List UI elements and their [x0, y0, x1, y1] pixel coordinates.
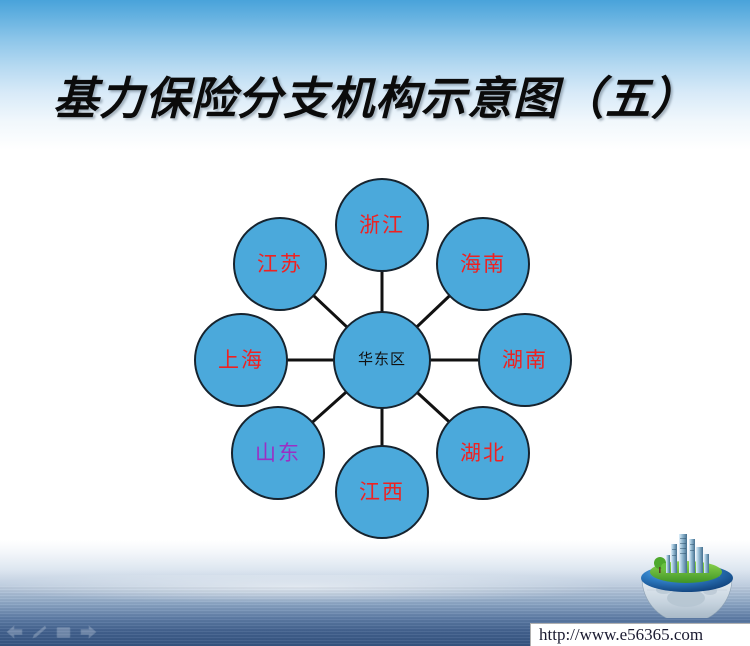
- diagram-node[interactable]: 江西: [335, 445, 429, 539]
- watermark-url-box: http://www.e56365.com: [530, 623, 750, 646]
- diagram-node[interactable]: 海南: [436, 217, 530, 311]
- diagram-node[interactable]: 湖南: [478, 313, 572, 407]
- watermark-url-text: http://www.e56365.com: [539, 625, 703, 645]
- slide-icon[interactable]: [56, 626, 71, 639]
- pen-icon[interactable]: [32, 625, 47, 639]
- diagram-edge: [416, 295, 450, 328]
- presentation-slide: 基力保险分支机构示意图（五） 浙江海南湖南湖北江西山东上海江苏华东区: [0, 0, 750, 646]
- diagram-edge: [313, 295, 348, 328]
- node-label: 湖北: [460, 443, 506, 464]
- node-label: 上海: [218, 350, 264, 371]
- diagram-node[interactable]: 浙江: [335, 178, 429, 272]
- node-label: 海南: [460, 254, 506, 275]
- presentation-nav-controls[interactable]: [6, 622, 106, 642]
- diagram-node[interactable]: 湖北: [436, 406, 530, 500]
- node-label: 江西: [359, 482, 405, 503]
- node-label: 山东: [255, 443, 301, 464]
- forward-arrow-icon[interactable]: [80, 625, 97, 639]
- diagram-node[interactable]: 江苏: [233, 217, 327, 311]
- diagram-center-node[interactable]: 华东区: [333, 311, 431, 409]
- slide-title: 基力保险分支机构示意图（五）: [0, 62, 750, 127]
- node-label: 江苏: [257, 254, 303, 275]
- globe-city-graphic: [634, 528, 740, 618]
- diagram-edge: [312, 391, 347, 423]
- node-label: 华东区: [358, 353, 406, 368]
- diagram-node[interactable]: 山东: [231, 406, 325, 500]
- back-arrow-icon[interactable]: [6, 625, 23, 639]
- node-label: 湖南: [502, 350, 548, 371]
- org-diagram: 浙江海南湖南湖北江西山东上海江苏华东区: [180, 170, 570, 535]
- node-label: 浙江: [359, 215, 405, 236]
- diagram-node[interactable]: 上海: [194, 313, 288, 407]
- diagram-edge: [417, 392, 450, 423]
